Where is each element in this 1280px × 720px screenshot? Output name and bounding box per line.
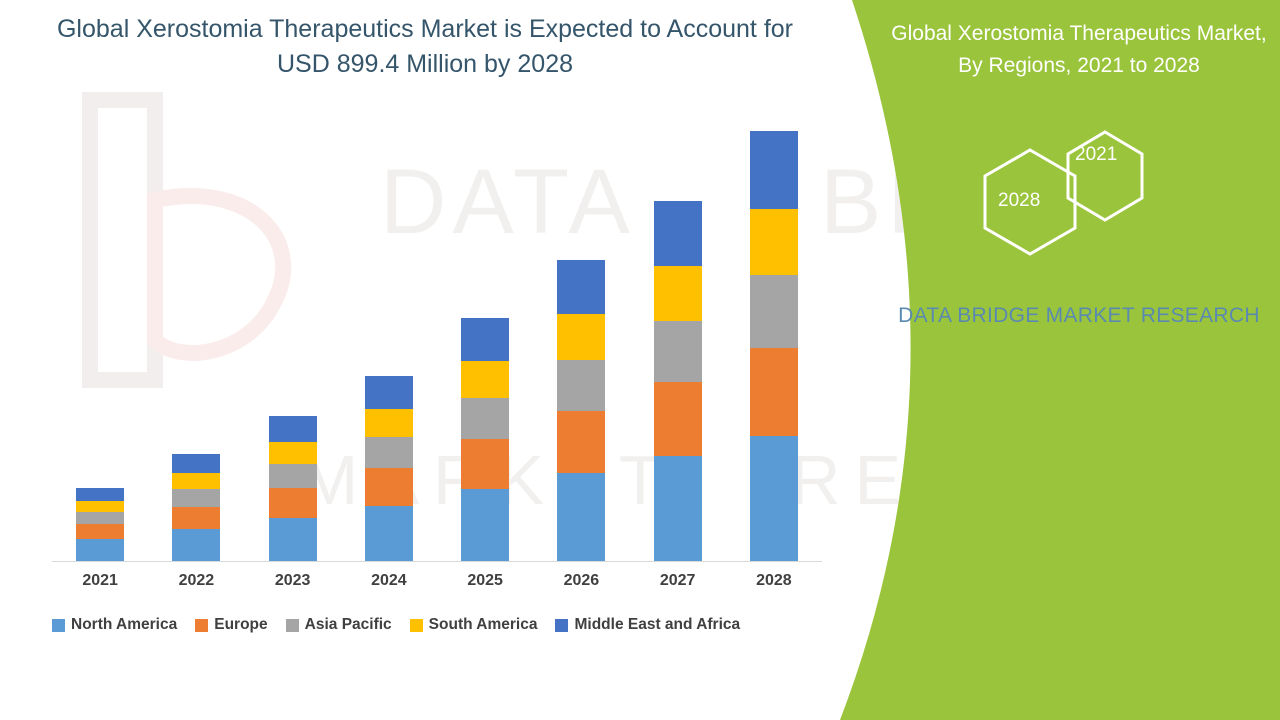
- bar-segment: [76, 539, 124, 561]
- bar-segment: [461, 361, 509, 398]
- hexagon-badges: 2028 2021: [970, 130, 1270, 290]
- bar-group-2025: [461, 318, 509, 561]
- bar-segment: [365, 376, 413, 409]
- panel-shape: [840, 0, 1280, 720]
- x-tick-label-2022: 2022: [161, 572, 231, 590]
- bar-group-2028: [750, 131, 798, 561]
- bar-segment: [557, 314, 605, 360]
- bar-segment: [365, 468, 413, 506]
- legend-item[interactable]: Middle East and Africa: [555, 616, 740, 634]
- bar-group-2023: [269, 416, 317, 561]
- chart-legend: North AmericaEuropeAsia PacificSouth Ame…: [52, 616, 832, 634]
- bar-segment: [269, 442, 317, 464]
- bar-group-2026: [557, 260, 605, 561]
- bar-segment: [750, 348, 798, 436]
- legend-label: Asia Pacific: [305, 616, 392, 634]
- bar-segment: [557, 411, 605, 473]
- bar-group-2022: [172, 454, 220, 561]
- legend-item[interactable]: South America: [410, 616, 538, 634]
- bar-segment: [76, 501, 124, 512]
- bar-segment: [76, 524, 124, 539]
- legend-item[interactable]: Europe: [195, 616, 267, 634]
- legend-item[interactable]: Asia Pacific: [286, 616, 392, 634]
- bar-group-2027: [654, 201, 702, 561]
- bar-segment: [172, 489, 220, 507]
- x-tick-label-2028: 2028: [739, 572, 809, 590]
- bar-segment: [269, 518, 317, 561]
- bar-segment: [750, 131, 798, 209]
- page-title: Global Xerostomia Therapeutics Market is…: [40, 12, 810, 82]
- bar-segment: [654, 266, 702, 321]
- hex-label-2021: 2021: [1075, 144, 1117, 166]
- bar-segment: [172, 473, 220, 489]
- bar-segment: [461, 318, 509, 361]
- bar-segment: [654, 382, 702, 456]
- bar-segment: [654, 321, 702, 382]
- bar-segment: [750, 275, 798, 348]
- bar-segment: [269, 488, 317, 518]
- x-tick-label-2021: 2021: [65, 572, 135, 590]
- bar-segment: [557, 473, 605, 561]
- legend-swatch-icon: [52, 619, 65, 632]
- legend-swatch-icon: [410, 619, 423, 632]
- hex-label-2028: 2028: [998, 190, 1040, 212]
- bar-segment: [76, 512, 124, 524]
- bar-segment: [654, 201, 702, 266]
- bar-segment: [557, 260, 605, 314]
- chart-plot: [52, 102, 822, 562]
- legend-swatch-icon: [286, 619, 299, 632]
- legend-label: Europe: [214, 616, 267, 634]
- bar-segment: [365, 437, 413, 468]
- bar-segment: [76, 488, 124, 501]
- brand-panel: Global Xerostomia Therapeutics Market, B…: [840, 0, 1280, 720]
- bar-segment: [654, 456, 702, 561]
- x-tick-label-2026: 2026: [546, 572, 616, 590]
- x-tick-label-2024: 2024: [354, 572, 424, 590]
- bar-group-2024: [365, 376, 413, 561]
- bar-segment: [750, 209, 798, 275]
- legend-label: Middle East and Africa: [574, 616, 740, 634]
- bar-segment: [557, 360, 605, 411]
- bar-segment: [269, 464, 317, 488]
- bar-segment: [461, 398, 509, 439]
- bar-segment: [461, 489, 509, 561]
- legend-label: North America: [71, 616, 177, 634]
- panel-brand-text: DATA BRIDGE MARKET RESEARCH: [884, 300, 1274, 332]
- x-tick-label-2025: 2025: [450, 572, 520, 590]
- legend-item[interactable]: North America: [52, 616, 177, 634]
- bar-segment: [365, 506, 413, 561]
- chart-area: [52, 100, 822, 562]
- legend-swatch-icon: [555, 619, 568, 632]
- legend-swatch-icon: [195, 619, 208, 632]
- x-tick-label-2023: 2023: [258, 572, 328, 590]
- bar-segment: [750, 436, 798, 561]
- x-axis-line: [52, 561, 822, 562]
- bar-segment: [172, 507, 220, 529]
- bar-segment: [365, 409, 413, 437]
- x-tick-label-2027: 2027: [643, 572, 713, 590]
- bar-segment: [269, 416, 317, 442]
- legend-label: South America: [429, 616, 538, 634]
- bar-segment: [172, 529, 220, 561]
- bar-segment: [461, 439, 509, 489]
- panel-title: Global Xerostomia Therapeutics Market, B…: [884, 18, 1274, 82]
- bar-group-2021: [76, 488, 124, 561]
- bar-segment: [172, 454, 220, 473]
- x-axis-labels: 20212022202320242025202620272028: [52, 572, 822, 596]
